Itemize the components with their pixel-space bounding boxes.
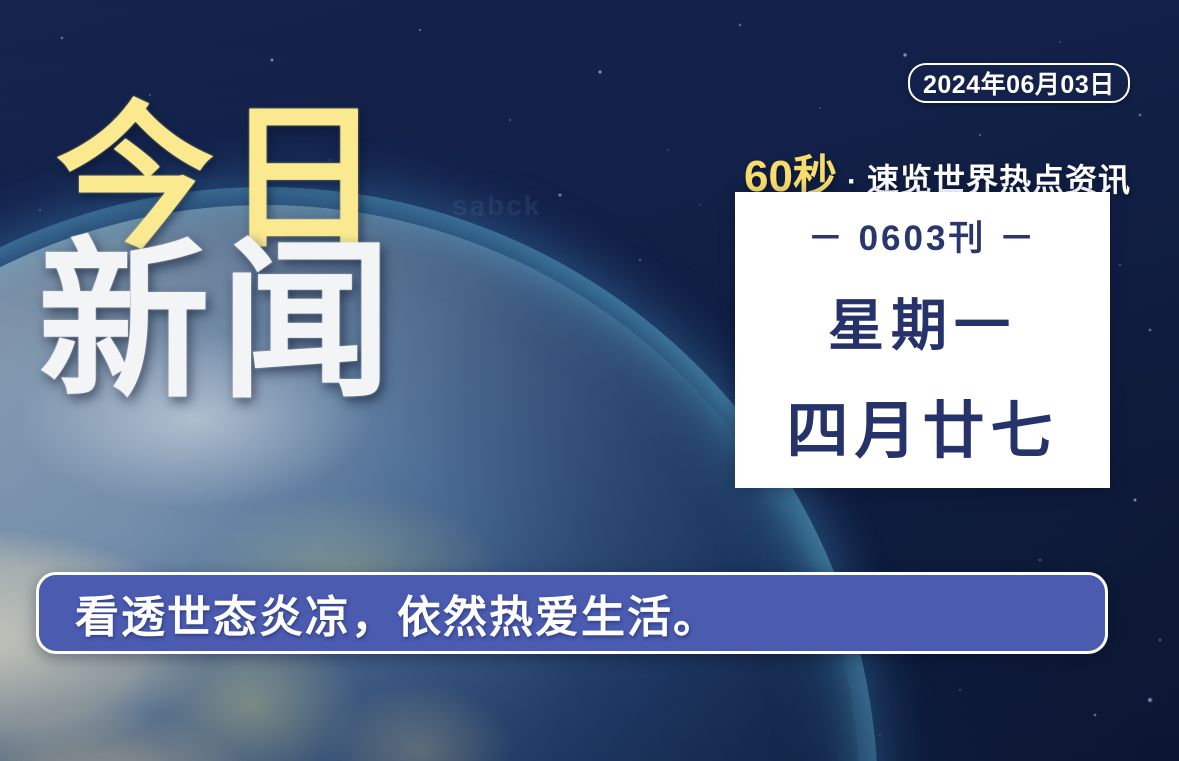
poster-title: 今日 新闻 — [56, 104, 402, 405]
issue-number: － 0603刊 － — [808, 210, 1037, 261]
quote-text: 看透世态炎凉，依然热爱生活。 — [75, 581, 719, 645]
title-line-news: 新闻 — [38, 240, 402, 405]
quote-bar: 看透世态炎凉，依然热爱生活。 — [36, 572, 1108, 654]
watermark-text: sabck — [452, 190, 541, 222]
weekday-label: 星期一 — [828, 281, 1017, 362]
lunar-date-label: 四月廿七 — [786, 380, 1058, 470]
news-poster: sabck 今日 新闻 2024年06月03日 60秒 · 速览世界热点资讯 －… — [0, 0, 1179, 761]
date-badge: 2024年06月03日 — [908, 63, 1130, 103]
date-info-card: － 0603刊 － 星期一 四月廿七 — [735, 192, 1110, 488]
